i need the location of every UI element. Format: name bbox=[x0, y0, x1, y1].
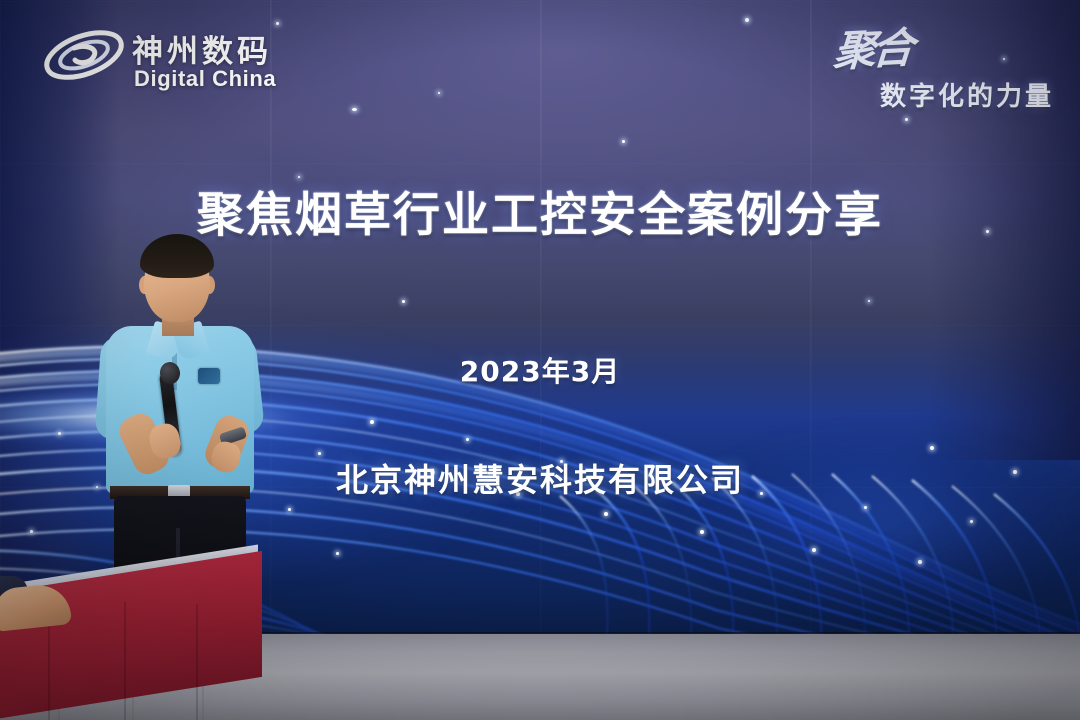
brand-name-cn: 神州数码 bbox=[132, 26, 272, 71]
company-emblem-icon bbox=[198, 368, 220, 384]
cloth-fold bbox=[196, 604, 198, 720]
cloth-fold bbox=[124, 602, 126, 720]
event-slogan: 聚合 数字化的力量 bbox=[796, 14, 1058, 114]
stage-photo: 神州数码 Digital China 聚合 数字化的力量 聚焦烟草行业工控安全案… bbox=[0, 0, 1080, 720]
presenter-hair bbox=[140, 234, 214, 278]
swirl-logo-icon bbox=[42, 24, 126, 86]
slogan-calligraphy: 聚合 bbox=[832, 14, 913, 79]
brand-name-en: Digital China bbox=[134, 66, 276, 92]
brand-logo: 神州数码 Digital China bbox=[42, 18, 312, 100]
slogan-line: 数字化的力量 bbox=[880, 76, 1054, 113]
